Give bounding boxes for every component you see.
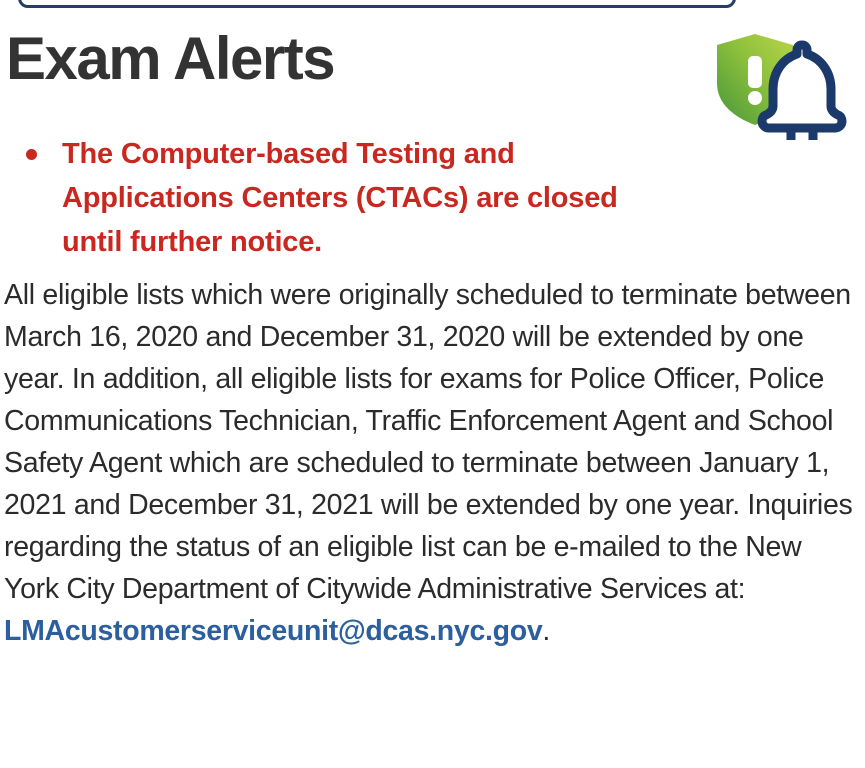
alert-bullet-text: The Computer-based Testing and Applicati… — [62, 138, 618, 258]
alert-header: Exam Alerts — [0, 24, 865, 134]
alert-bullet-list: The Computer-based Testing and Applicati… — [0, 132, 640, 264]
page-title: Exam Alerts — [6, 24, 334, 94]
list-item: The Computer-based Testing and Applicati… — [0, 132, 640, 264]
body-text-before-link: All eligible lists which were originally… — [4, 279, 852, 605]
body-text-after-link: . — [542, 615, 550, 647]
bullet-dot-icon — [26, 149, 37, 160]
alert-bell-shield-icon — [707, 28, 847, 140]
contact-email-link[interactable]: LMAcustomerserviceunit@dcas.nyc.gov — [4, 615, 542, 647]
alert-body-paragraph: All eligible lists which were originally… — [4, 274, 856, 652]
exam-alerts-card: Exam Alerts — [0, 0, 865, 768]
